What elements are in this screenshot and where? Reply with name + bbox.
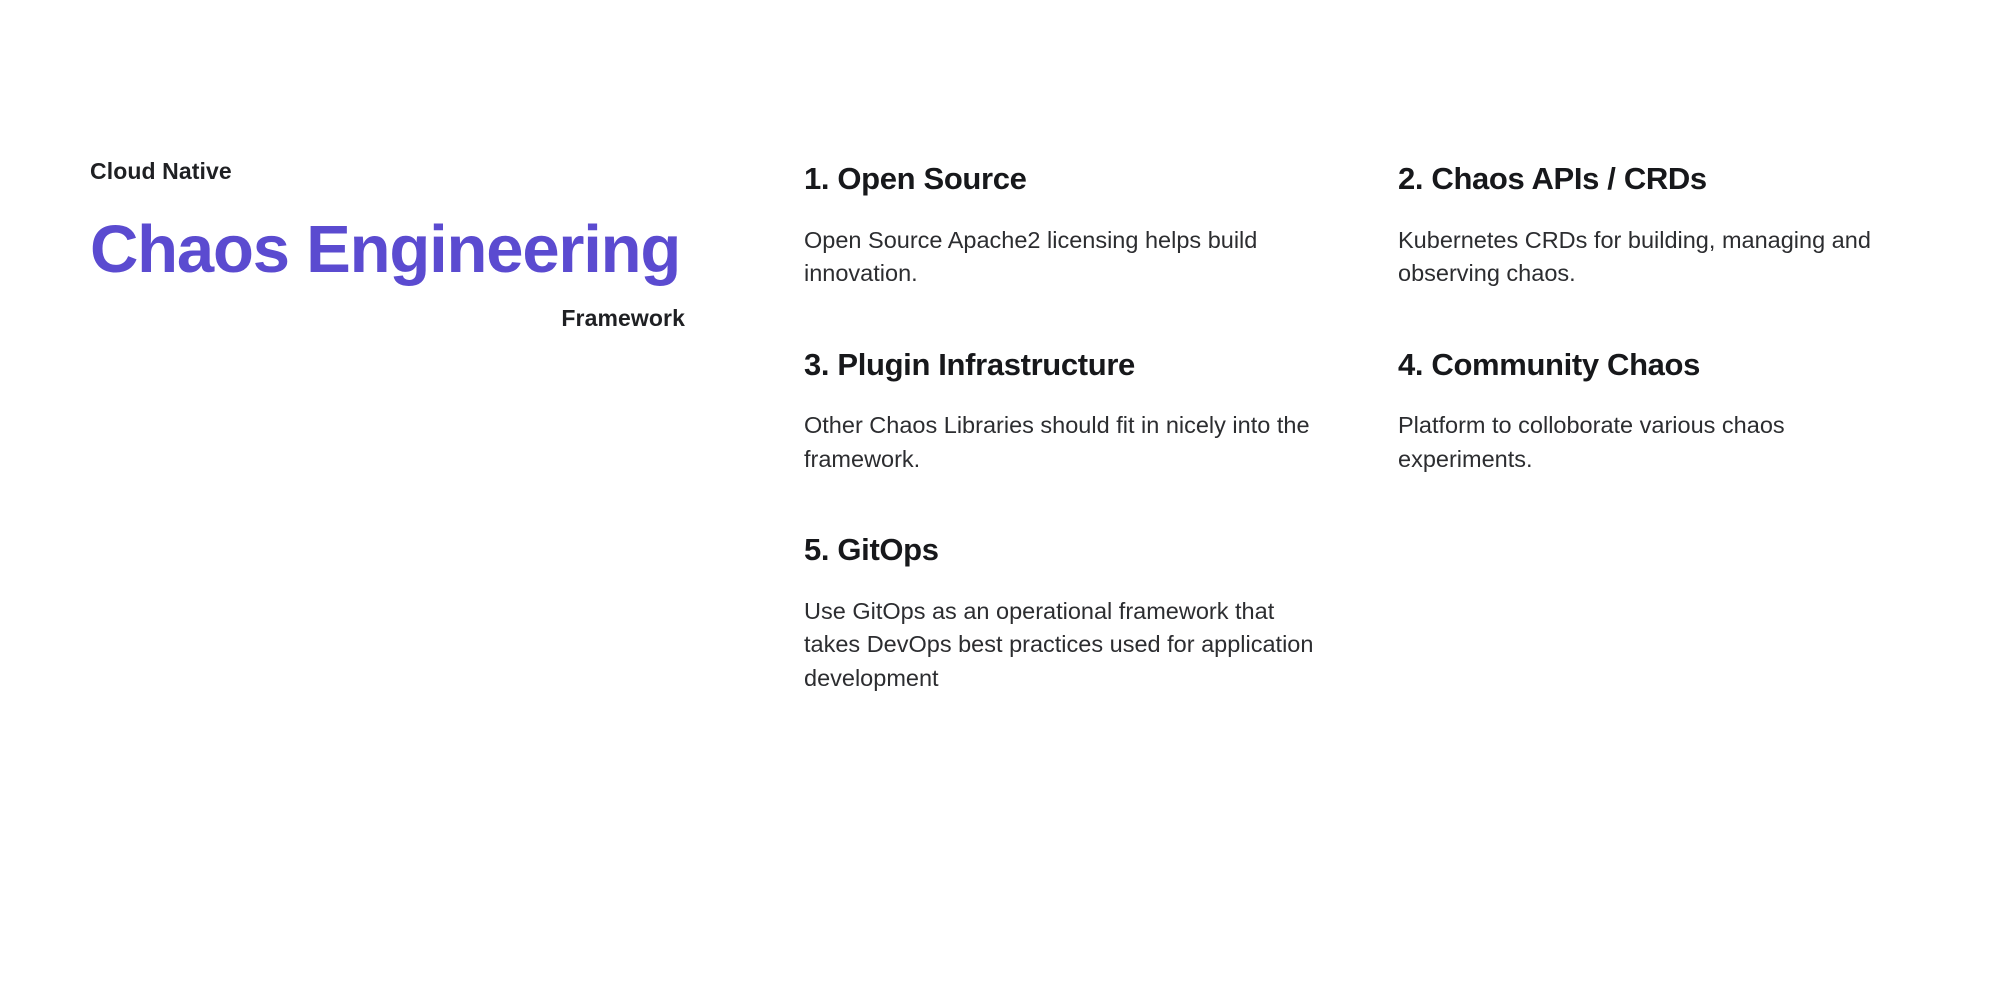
feature-heading: 5. GitOps xyxy=(804,531,1330,569)
feature-body: Use GitOps as an operational framework t… xyxy=(804,595,1314,695)
eyebrow-label: Cloud Native xyxy=(90,158,690,186)
feature-heading: 4. Community Chaos xyxy=(1398,346,1924,384)
feature-column-right: 2. Chaos APIs / CRDs Kubernetes CRDs for… xyxy=(1398,160,1924,476)
feature-item: 4. Community Chaos Platform to collobora… xyxy=(1398,346,1924,477)
feature-body: Kubernetes CRDs for building, managing a… xyxy=(1398,224,1924,291)
slide-canvas: Cloud Native Chaos Engineering Framework… xyxy=(0,0,2000,1000)
feature-body: Platform to colloborate various chaos ex… xyxy=(1398,409,1924,476)
feature-item: 2. Chaos APIs / CRDs Kubernetes CRDs for… xyxy=(1398,160,1924,291)
subtitle-label: Framework xyxy=(90,305,685,333)
feature-heading: 3. Plugin Infrastructure xyxy=(804,346,1330,384)
feature-body: Open Source Apache2 licensing helps buil… xyxy=(804,224,1314,291)
page-title: Chaos Engineering xyxy=(90,212,690,287)
feature-item: 3. Plugin Infrastructure Other Chaos Lib… xyxy=(804,346,1330,477)
feature-body: Other Chaos Libraries should fit in nice… xyxy=(804,409,1314,476)
feature-column-left: 1. Open Source Open Source Apache2 licen… xyxy=(804,160,1330,695)
feature-item: 5. GitOps Use GitOps as an operational f… xyxy=(804,531,1330,695)
feature-heading: 2. Chaos APIs / CRDs xyxy=(1398,160,1924,198)
feature-heading: 1. Open Source xyxy=(804,160,1330,198)
title-block: Cloud Native Chaos Engineering Framework xyxy=(90,158,690,332)
features-grid: 1. Open Source Open Source Apache2 licen… xyxy=(804,160,1924,695)
feature-item: 1. Open Source Open Source Apache2 licen… xyxy=(804,160,1330,291)
